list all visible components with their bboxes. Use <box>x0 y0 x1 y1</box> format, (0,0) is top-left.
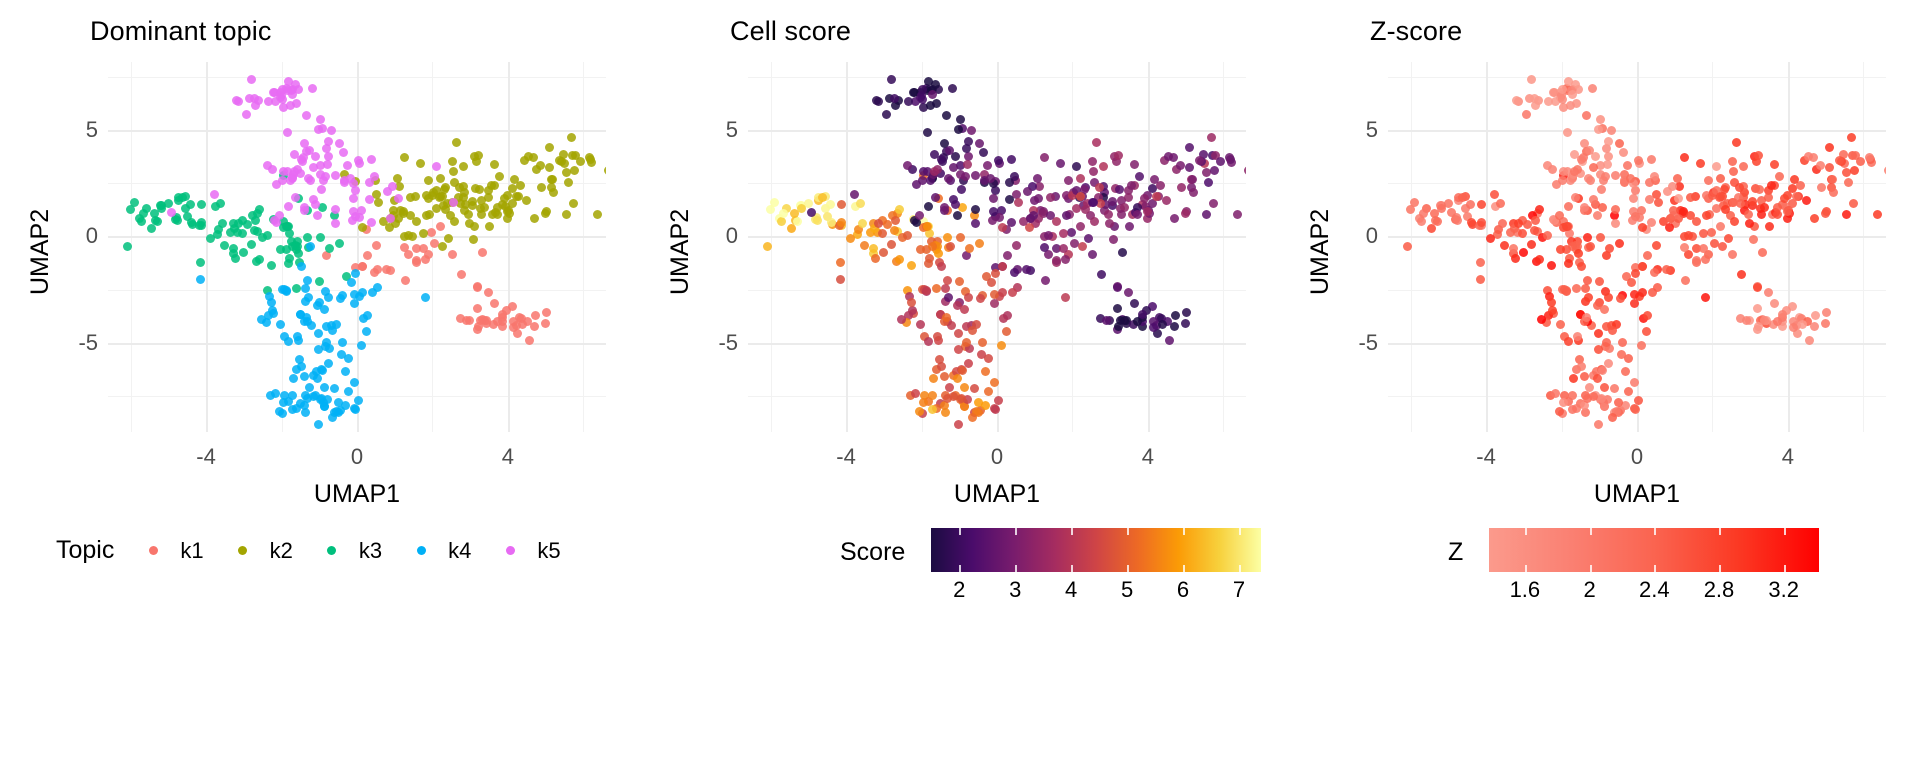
scatter-point <box>549 188 558 197</box>
scatter-point <box>1825 143 1834 152</box>
x-tick-label: 0 <box>351 444 363 470</box>
legend-item-k5[interactable]: k5 <box>497 538 560 564</box>
scatter-point <box>1244 166 1246 175</box>
scatter-point <box>267 261 276 270</box>
scatter-point <box>1662 265 1671 274</box>
scatter-point <box>529 153 538 162</box>
scatter-point <box>490 160 499 169</box>
scatter-point <box>1783 207 1792 216</box>
scatter-point <box>328 326 337 335</box>
scatter-point <box>536 161 545 170</box>
scatter-point <box>983 161 992 170</box>
scatter-point <box>981 367 990 376</box>
gridline-major-horizontal <box>748 236 1246 238</box>
scatter-point <box>976 294 985 303</box>
scatter-point <box>1598 366 1607 375</box>
scatter-point <box>303 276 312 285</box>
scatter-point <box>1596 115 1605 124</box>
scatter-point <box>288 90 297 99</box>
scatter-point <box>1477 200 1486 209</box>
scatter-point <box>474 151 483 160</box>
scatter-point <box>1210 166 1219 175</box>
scatter-point <box>317 394 326 403</box>
scatter-point <box>394 194 403 203</box>
scatter-point <box>1637 341 1646 350</box>
scatter-point <box>1595 277 1604 286</box>
colorbar-tick-label: 3 <box>1009 577 1021 603</box>
scatter-point <box>1634 396 1643 405</box>
scatter-point <box>484 288 493 297</box>
scatter-point <box>255 255 264 264</box>
scatter-point <box>1842 210 1851 219</box>
scatter-point <box>1770 299 1779 308</box>
scatter-point <box>956 233 965 242</box>
scatter-point <box>126 205 135 214</box>
gridline-major-vertical <box>846 62 848 432</box>
scatter-point <box>432 162 441 171</box>
scatter-point <box>1755 185 1764 194</box>
panel-title-z-score: Z-score <box>1370 16 1462 47</box>
scatter-point <box>220 241 229 250</box>
scatter-point <box>1207 133 1216 142</box>
scatter-point <box>1558 176 1567 185</box>
scatter-point <box>1572 284 1581 293</box>
scatter-point <box>1753 283 1762 292</box>
scatter-point <box>991 269 1000 278</box>
scatter-point <box>187 218 196 227</box>
colorbar-tick-mark <box>1183 565 1185 572</box>
scatter-point <box>1631 269 1640 278</box>
colorbar-gradient <box>931 528 1261 572</box>
scatter-point <box>1181 319 1190 328</box>
scatter-point <box>1059 244 1068 253</box>
scatter-point <box>338 338 347 347</box>
scatter-point <box>1811 311 1820 320</box>
scatter-point <box>1530 226 1539 235</box>
scatter-point <box>1088 250 1097 259</box>
scatter-point <box>1185 143 1194 152</box>
scatter-point <box>887 240 896 249</box>
scatter-point <box>317 185 326 194</box>
scatter-point <box>1052 256 1061 265</box>
scatter-point <box>963 160 972 169</box>
scatter-point <box>1104 210 1113 219</box>
scatter-point <box>545 143 554 152</box>
y-tick-label: 0 <box>726 223 738 249</box>
scatter-point <box>837 200 846 209</box>
legend-item-k1[interactable]: k1 <box>140 538 203 564</box>
legend-title: Score <box>840 538 905 567</box>
scatter-point <box>891 216 900 225</box>
gridline-major-vertical <box>997 62 999 432</box>
scatter-point <box>531 311 540 320</box>
scatter-point <box>1072 162 1081 171</box>
scatter-point <box>1209 199 1218 208</box>
scatter-point <box>1125 222 1134 231</box>
scatter-point <box>1563 222 1572 231</box>
scatter-point <box>1674 194 1683 203</box>
scatter-point <box>1817 183 1826 192</box>
legend-dot-icon <box>408 538 434 564</box>
scatter-point <box>308 84 317 93</box>
colorbar-tick-mark <box>1239 528 1241 535</box>
colorbar-tick-label: 2 <box>953 577 965 603</box>
scatter-point <box>1684 231 1693 240</box>
scatter-point <box>965 244 974 253</box>
scatter-point <box>948 84 957 93</box>
scatter-point <box>562 210 571 219</box>
scatter-point <box>1498 219 1507 228</box>
scatter-point <box>1089 167 1098 176</box>
scatter-point <box>1149 323 1158 332</box>
scatter-point <box>1584 174 1593 183</box>
x-axis-title: UMAP1 <box>108 480 606 509</box>
scatter-point <box>351 269 360 278</box>
scatter-point <box>1543 231 1552 240</box>
scatter-point <box>903 231 912 240</box>
scatter-point <box>958 366 967 375</box>
scatter-point <box>1547 298 1556 307</box>
scatter-point <box>304 174 313 183</box>
panel-title-dominant-topic: Dominant topic <box>90 16 272 47</box>
scatter-point <box>954 420 963 429</box>
scatter-point <box>450 217 459 226</box>
legend-item-k4[interactable]: k4 <box>408 538 471 564</box>
scatter-point <box>1873 210 1882 219</box>
scatter-point <box>313 211 322 220</box>
scatter-point <box>1046 193 1055 202</box>
scatter-point <box>1589 163 1598 172</box>
scatter-point <box>263 231 272 240</box>
scatter-point <box>1040 153 1049 162</box>
scatter-point <box>1115 185 1124 194</box>
gridline-minor-vertical <box>583 62 584 432</box>
scatter-point <box>1607 126 1616 135</box>
scatter-point <box>1754 151 1763 160</box>
scatter-point <box>827 218 836 227</box>
scatter-point <box>1765 222 1774 231</box>
scatter-point <box>1597 185 1606 194</box>
scatter-point <box>916 320 925 329</box>
scatter-point <box>895 205 904 214</box>
scatter-point <box>1647 155 1656 164</box>
scatter-point <box>1562 286 1571 295</box>
scatter-point <box>500 194 509 203</box>
scatter-point <box>971 219 980 228</box>
scatter-point <box>1629 207 1638 216</box>
legend-label: k2 <box>270 538 293 564</box>
scatter-point <box>1739 162 1748 171</box>
scatter-point <box>1109 235 1118 244</box>
scatter-point <box>412 256 421 265</box>
scatter-point <box>949 163 958 172</box>
scatter-point <box>401 276 410 285</box>
scatter-point <box>1406 205 1415 214</box>
scatter-point <box>400 243 409 252</box>
x-tick-label: -4 <box>836 444 856 470</box>
colorbar-tick-label: 2.4 <box>1639 577 1670 603</box>
scatter-point <box>846 234 855 243</box>
scatter-point <box>1647 218 1656 227</box>
scatter-point <box>1724 234 1733 243</box>
scatter-point <box>1603 160 1612 169</box>
scatter-point <box>473 304 482 313</box>
scatter-point <box>1034 194 1043 203</box>
scatter-point <box>1696 159 1705 168</box>
scatter-point <box>964 137 973 146</box>
x-tick-label: 4 <box>502 444 514 470</box>
scatter-point <box>349 207 358 216</box>
scatter-point <box>343 161 352 170</box>
scatter-point <box>231 254 240 263</box>
scatter-point <box>368 288 377 297</box>
scatter-point <box>1775 172 1784 181</box>
colorbar-tick-mark <box>1071 528 1073 535</box>
colorbar-gradient <box>1489 528 1819 572</box>
scatter-point <box>989 194 998 203</box>
scatter-point <box>929 374 938 383</box>
scatter-point <box>1611 219 1620 228</box>
scatter-point <box>350 378 359 387</box>
scatter-point <box>1010 268 1019 277</box>
scatter-point <box>537 183 546 192</box>
scatter-point <box>1686 193 1695 202</box>
scatter-point <box>1704 176 1713 185</box>
scatter-point <box>1202 210 1211 219</box>
scatter-point <box>1113 304 1122 313</box>
gridline-major-horizontal <box>108 236 606 238</box>
scatter-point <box>1090 217 1099 226</box>
scatter-point <box>382 265 391 274</box>
scatter-point <box>1005 195 1014 204</box>
gridline-major-vertical <box>357 62 359 432</box>
scatter-point <box>1092 138 1101 147</box>
scatter-point <box>931 193 940 202</box>
scatter-point <box>961 172 970 181</box>
gridline-major-horizontal <box>108 130 606 132</box>
scatter-point <box>1758 248 1767 257</box>
scatter-point <box>924 259 933 268</box>
scatter-point <box>1778 310 1787 319</box>
scatter-point <box>1140 194 1149 203</box>
scatter-point <box>1216 157 1225 166</box>
scatter-point <box>928 405 937 414</box>
legend-label: k1 <box>180 538 203 564</box>
y-axis-title: UMAP2 <box>1306 209 1335 295</box>
scatter-point <box>869 244 878 253</box>
scatter-point <box>1825 163 1834 172</box>
y-tick-label: 0 <box>1366 223 1378 249</box>
scatter-point <box>1162 196 1171 205</box>
scatter-point <box>1699 244 1708 253</box>
scatter-point <box>879 248 888 257</box>
scatter-point <box>347 278 356 287</box>
x-tick-label: 4 <box>1782 444 1794 470</box>
scatter-point <box>542 308 551 317</box>
scatter-point <box>1181 209 1190 218</box>
scatter-point <box>1099 162 1108 171</box>
scatter-point <box>1551 389 1560 398</box>
scatter-point <box>871 254 880 263</box>
scatter-point <box>1680 153 1689 162</box>
scatter-point <box>975 239 984 248</box>
scatter-point <box>1764 288 1773 297</box>
scatter-point <box>918 95 927 104</box>
scatter-point <box>957 394 966 403</box>
scatter-point <box>406 193 415 202</box>
scatter-point <box>503 207 512 216</box>
colorbar-tick-mark <box>1015 565 1017 572</box>
scatter-point <box>1593 374 1602 383</box>
scatter-point <box>942 313 951 322</box>
scatter-point <box>1583 276 1592 285</box>
scatter-point <box>928 391 937 400</box>
scatter-point <box>779 209 788 218</box>
scatter-point <box>210 190 219 199</box>
gridline-major-horizontal <box>1388 236 1886 238</box>
colorbar-tick-mark <box>1525 528 1527 535</box>
scatter-point <box>1571 193 1580 202</box>
scatter-point <box>1594 345 1603 354</box>
scatter-point <box>349 194 358 203</box>
panel-cell-score: Cell score-505-404UMAP1UMAP2Score234567 <box>640 0 1280 620</box>
legend-item-k2[interactable]: k2 <box>230 538 293 564</box>
scatter-point <box>335 139 344 148</box>
scatter-point <box>807 208 816 217</box>
y-axis-title: UMAP2 <box>666 209 695 295</box>
scatter-point <box>363 311 372 320</box>
scatter-point <box>1490 190 1499 199</box>
scatter-point <box>336 294 345 303</box>
gridline-major-horizontal <box>1388 130 1886 132</box>
scatter-point <box>1648 288 1657 297</box>
scatter-point <box>365 178 374 187</box>
scatter-point <box>1789 323 1798 332</box>
scatter-point <box>1182 308 1191 317</box>
scatter-point <box>436 174 445 183</box>
scatter-point <box>465 219 474 228</box>
scatter-point <box>1802 196 1811 205</box>
scatter-point <box>1124 193 1133 202</box>
colorbar-tick-mark <box>1071 565 1073 572</box>
scatter-point <box>1022 265 1031 274</box>
scatter-point <box>1486 234 1495 243</box>
scatter-point <box>1732 138 1741 147</box>
gridline-major-vertical <box>1637 62 1639 432</box>
scatter-point <box>1629 194 1638 203</box>
scatter-point <box>1594 329 1603 338</box>
scatter-point <box>328 413 337 422</box>
scatter-point <box>1076 174 1085 183</box>
scatter-point <box>860 241 869 250</box>
scatter-point <box>1850 166 1859 175</box>
scatter-point <box>452 138 461 147</box>
scatter-point <box>911 389 920 398</box>
scatter-point <box>1610 384 1619 393</box>
scatter-point <box>1023 187 1032 196</box>
scatter-point <box>1003 251 1012 260</box>
scatter-point <box>464 210 473 219</box>
scatter-point <box>954 345 963 354</box>
scatter-point <box>1865 153 1874 162</box>
scatter-point <box>1165 336 1174 345</box>
scatter-point <box>327 126 336 135</box>
scatter-point <box>1003 311 1012 320</box>
legend-item-k3[interactable]: k3 <box>319 538 382 564</box>
scatter-point <box>1608 326 1617 335</box>
scatter-point <box>991 405 1000 414</box>
scatter-point <box>1563 128 1572 137</box>
scatter-point <box>196 275 205 284</box>
scatter-point <box>473 283 482 292</box>
scatter-point <box>339 148 348 157</box>
scatter-point <box>324 293 333 302</box>
scatter-point <box>998 223 1007 232</box>
scatter-point <box>1064 176 1073 185</box>
scatter-point <box>946 242 955 251</box>
scatter-point <box>874 219 883 228</box>
scatter-point <box>1124 288 1133 297</box>
y-tick-label: -5 <box>1358 330 1378 356</box>
y-tick-label: -5 <box>78 330 98 356</box>
scatter-point <box>944 293 953 302</box>
scatter-point <box>570 166 579 175</box>
figure-root: Dominant topic-505-404UMAP1UMAP2Topick1k… <box>0 0 1920 768</box>
scatter-point <box>469 235 478 244</box>
scatter-point <box>325 244 334 253</box>
scatter-point <box>475 185 484 194</box>
scatter-point <box>370 268 379 277</box>
scatter-point <box>239 248 248 257</box>
scatter-point <box>1588 84 1597 93</box>
scatter-point <box>438 242 447 251</box>
scatter-point <box>251 216 260 225</box>
scatter-point <box>358 288 367 297</box>
scatter-point <box>1638 223 1647 232</box>
scatter-point <box>412 217 421 226</box>
scatter-point <box>990 378 999 387</box>
scatter-point <box>247 75 256 84</box>
scatter-point <box>1611 205 1620 214</box>
scatter-point <box>940 372 949 381</box>
scatter-point <box>1044 231 1053 240</box>
scatter-point <box>495 172 504 181</box>
scatter-point <box>323 160 332 169</box>
scatter-point <box>123 242 132 251</box>
scatter-point <box>564 178 573 187</box>
scatter-point <box>1564 337 1573 346</box>
scatter-point <box>302 313 311 322</box>
panel-dominant-topic: Dominant topic-505-404UMAP1UMAP2Topick1k… <box>0 0 640 620</box>
scatter-point <box>932 99 941 108</box>
scatter-point <box>937 362 946 371</box>
scatter-point <box>303 394 312 403</box>
colorbar-tick-mark <box>1127 565 1129 572</box>
scatter-point <box>1130 299 1139 308</box>
colorbar-tick-label: 7 <box>1233 577 1245 603</box>
scatter-point <box>998 288 1007 297</box>
scatter-point <box>989 207 998 216</box>
scatter-point <box>1556 320 1565 329</box>
scatter-point <box>766 205 775 214</box>
scatter-point <box>1744 210 1753 219</box>
scatter-point <box>300 372 309 381</box>
scatter-point <box>1005 178 1014 187</box>
scatter-point <box>1176 161 1185 170</box>
scatter-point <box>897 315 906 324</box>
x-tick-label: 0 <box>991 444 1003 470</box>
gridline-major-vertical <box>1486 62 1488 432</box>
